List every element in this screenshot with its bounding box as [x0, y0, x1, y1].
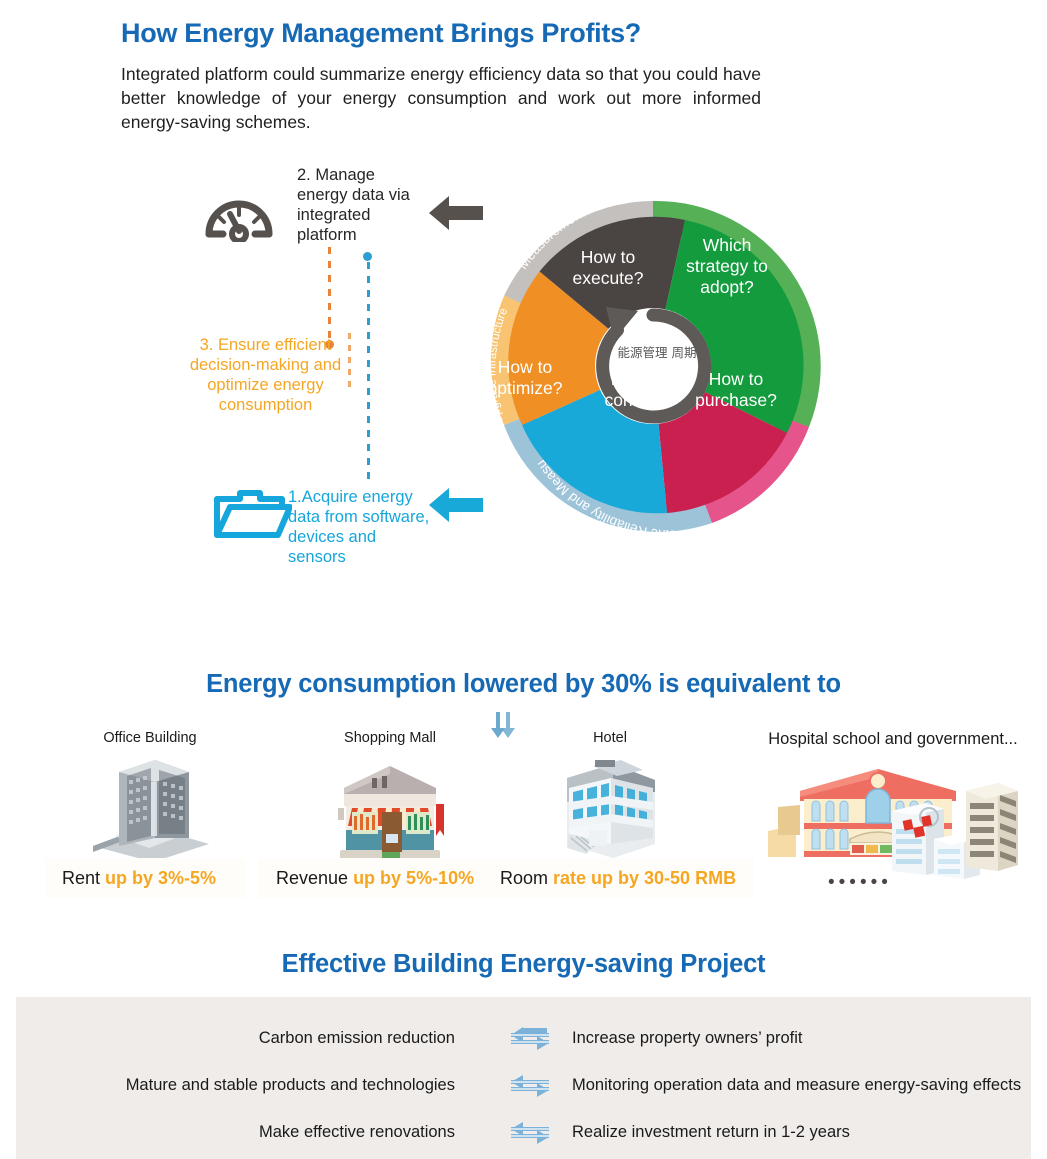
project-title: Effective Building Energy-saving Project: [0, 950, 1047, 979]
project-row: Carbon emission reduction Increase prope…: [16, 1021, 1031, 1055]
intro-paragraph: Integrated platform could summarize ener…: [121, 62, 761, 134]
annotation-step-1: 1.Acquire energy data from software, dev…: [288, 487, 438, 567]
project-row-left: Mature and stable products and technolog…: [126, 1068, 455, 1102]
project-row-left: Carbon emission reduction: [259, 1021, 455, 1055]
gauge-icon: [203, 190, 275, 242]
card-caption: Office Building: [70, 730, 230, 746]
annotation-step-3: 3. Ensure efficient decision-making and …: [183, 335, 348, 415]
office-tower-icon: [70, 752, 230, 867]
dashed-connector-blue: [367, 262, 370, 484]
foot-highlight: rate up by 30-50 RMB: [553, 868, 736, 888]
card-shopping-mall: Shopping Mall: [310, 730, 470, 867]
infographic-page: How Energy Management Brings Profits? In…: [0, 0, 1047, 1159]
card-hotel: Hotel: [545, 730, 675, 867]
wheel-svg: Measurement and Report System Planning a…: [438, 157, 868, 575]
card-footer-hotel: Room rate up by 30-50 RMB: [500, 868, 736, 889]
card-office-building: Office Building: [70, 730, 230, 867]
card-civic-cluster: Hospital school and government...: [748, 730, 1038, 890]
project-row: Mature and stable products and technolog…: [16, 1068, 1031, 1102]
project-row-right: Realize investment return in 1-2 years: [572, 1115, 850, 1149]
foot-highlight: up by 5%-10%: [353, 868, 474, 888]
hotel-block-icon: [545, 752, 675, 867]
foot-plain: Revenue: [276, 868, 353, 888]
energy-management-cycle-diagram: Measurement and Report System Planning a…: [438, 157, 868, 575]
project-row-right: Increase property owners’ profit: [572, 1021, 803, 1055]
exchange-arrows-icon: [509, 1120, 551, 1146]
dot-blue: [363, 252, 372, 261]
card-caption: Shopping Mall: [310, 730, 470, 746]
exchange-arrows-icon: [509, 1026, 551, 1052]
trailing-dots: ••••••: [828, 872, 892, 894]
card-footer-office: Rent up by 3%-5%: [62, 868, 216, 889]
arrow-left-cyan-icon: [427, 484, 485, 526]
annotation-step-2: 2. Manage energy data via integrated pla…: [297, 165, 415, 245]
dashed-connector-orange: [328, 247, 331, 345]
project-row: Make effective renovations Realize inves…: [16, 1115, 1031, 1149]
project-panel: Carbon emission reduction Increase prope…: [16, 997, 1031, 1159]
foot-plain: Rent: [62, 868, 105, 888]
card-caption: Hotel: [545, 730, 675, 746]
card-caption: Hospital school and government...: [748, 730, 1038, 749]
project-row-left: Make effective renovations: [259, 1115, 455, 1149]
dashed-connector-orange-secondary: [348, 333, 351, 387]
shop-front-icon: [310, 752, 470, 867]
foot-highlight: up by 3%-5%: [105, 868, 216, 888]
wheel-core-label: 能源管理 周期: [614, 345, 700, 360]
project-row-right: Monitoring operation data and measure en…: [572, 1068, 1021, 1102]
folder-icon: [212, 485, 292, 541]
card-footer-mall: Revenue up by 5%-10%: [276, 868, 474, 889]
equivalence-title: Energy consumption lowered by 30% is equ…: [0, 670, 1047, 699]
exchange-arrows-icon: [509, 1073, 551, 1099]
arrow-left-gray-icon: [427, 192, 485, 234]
foot-plain: Room: [500, 868, 553, 888]
page-title: How Energy Management Brings Profits?: [121, 18, 641, 49]
civic-cluster-icon: ⌖: [748, 755, 1038, 890]
